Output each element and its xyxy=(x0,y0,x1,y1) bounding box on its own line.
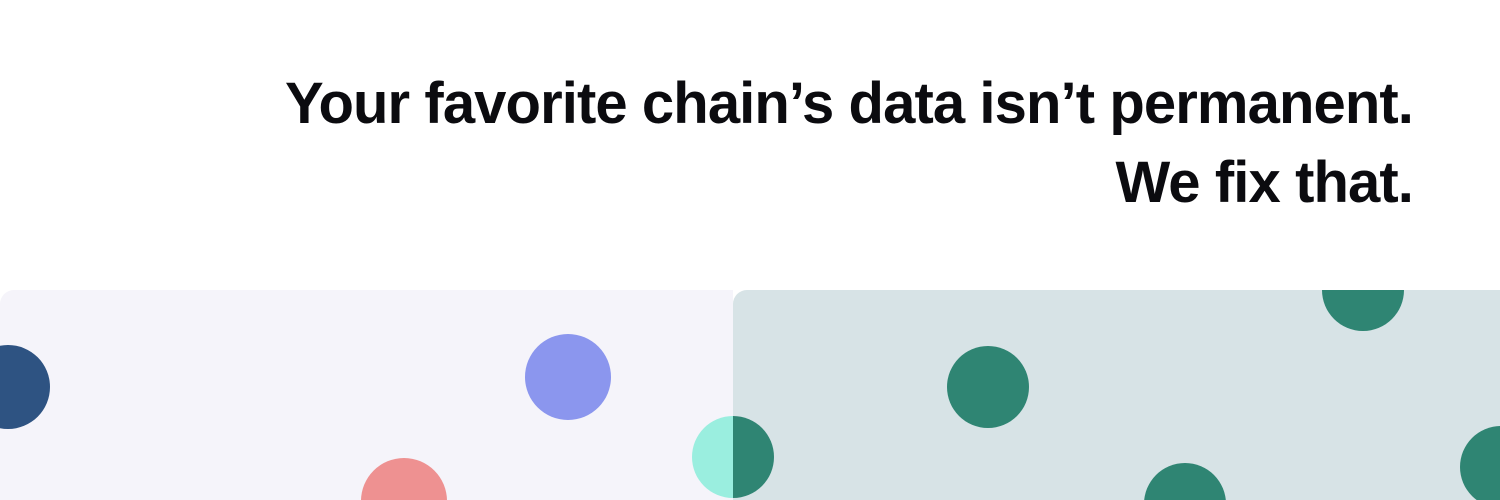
dot-mint-left-half xyxy=(692,416,733,498)
dot-teal-mid xyxy=(947,346,1029,428)
headline-line-2: We fix that. xyxy=(0,143,1413,222)
page-title: Your favorite chain’s data isn’t permane… xyxy=(0,64,1413,222)
dot-teal-top xyxy=(1322,290,1404,331)
decorative-panel-area xyxy=(0,290,1500,500)
hero-banner: Your favorite chain’s data isn’t permane… xyxy=(0,0,1500,500)
dot-teal-right-half xyxy=(733,416,774,498)
dot-periwinkle xyxy=(525,334,611,420)
dot-teal-bottom xyxy=(1144,463,1226,500)
left-decorative-panel xyxy=(0,290,733,500)
dot-navy-left-edge xyxy=(0,345,50,429)
right-decorative-panel xyxy=(733,290,1500,500)
dot-teal-right-edge xyxy=(1460,426,1500,500)
dot-salmon xyxy=(361,458,447,500)
headline-line-1: Your favorite chain’s data isn’t permane… xyxy=(0,64,1413,143)
